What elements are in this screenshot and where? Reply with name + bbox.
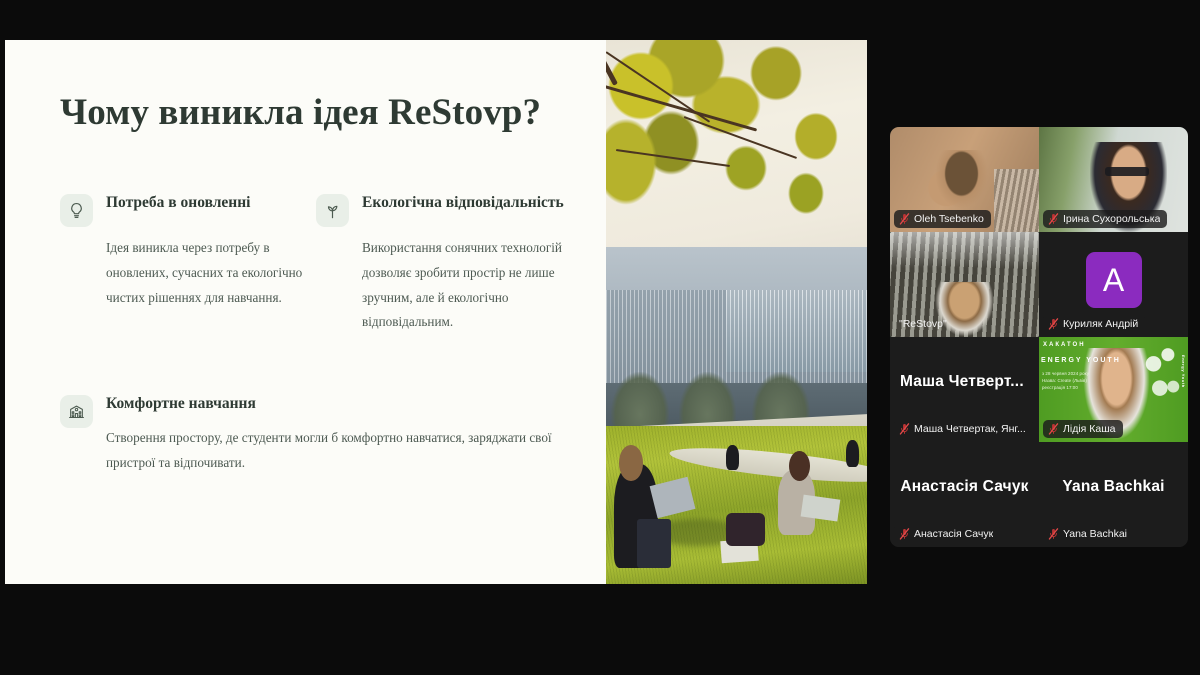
participant-name-badge: Лідія Каша (1043, 420, 1123, 438)
photo-backpack (726, 513, 765, 546)
school-building-icon (60, 395, 93, 428)
avatar: А (1086, 252, 1142, 308)
feature-body: Потреба в оновленні Ідея виникла через п… (106, 192, 306, 310)
participant-name: Маша Четвертак, Янг... (914, 422, 1026, 436)
mic-off-icon (1048, 318, 1059, 330)
participant-name: Ірина Сухорольська (1063, 212, 1160, 226)
participant-name: Куриляк Андрій (1063, 317, 1138, 331)
slide-photo-campus-lawn (606, 40, 867, 584)
mic-off-icon (1048, 213, 1059, 225)
poster-line1: ХАКАТОН (1043, 342, 1086, 348)
participant-name-badge: Yana Bachkai (1043, 525, 1134, 543)
participant-tile-yana-bachkai[interactable]: Yana Bachkai Yana Bachkai (1039, 442, 1188, 547)
participant-name-badge: Маша Четвертак, Янг... (894, 420, 1033, 438)
feature-item-eco-responsibility: Екологічна відповідальність Використання… (316, 192, 566, 335)
poster-side-text: Energy Youth (1181, 355, 1186, 388)
participant-name-badge: Куриляк Андрій (1043, 315, 1145, 333)
participant-tile-restovp-active-speaker[interactable]: "ReStovp" (890, 232, 1039, 337)
participant-video-panel[interactable]: Oleh Tsebenko Ірина Сухорольська "ReStov… (890, 127, 1188, 547)
feature-body: Екологічна відповідальність Використання… (362, 192, 564, 335)
photo-person-distant (726, 445, 739, 469)
sprout-icon (316, 194, 349, 227)
participant-tile-iryna-sukhorolska[interactable]: Ірина Сухорольська (1039, 127, 1188, 232)
feature-text: Ідея виникла через потребу в оновлених, … (106, 236, 306, 310)
mic-off-icon (899, 528, 910, 540)
feature-text: Створення простору, де студенти могли б … (106, 426, 566, 476)
participant-name-badge: Анастасія Сачук (894, 525, 1000, 543)
participant-tile-oleh-tsebenko[interactable]: Oleh Tsebenko (890, 127, 1039, 232)
photo-student-head (789, 451, 810, 481)
poster-line2: ENERGY YOUTH (1041, 357, 1121, 364)
participant-name-badge: Ірина Сухорольська (1043, 210, 1167, 228)
screen-root: Чому виникла ідея ReStovp? Потреба в оно… (0, 0, 1200, 675)
photo-bag (637, 519, 671, 568)
participant-tile-kurylyak-andrii[interactable]: А Куриляк Андрій (1039, 232, 1188, 337)
participant-tile-masha-chetvertak[interactable]: Маша Четверт... Маша Четвертак, Янг... (890, 337, 1039, 442)
participant-name: Анастасія Сачук (914, 527, 993, 541)
participant-name: Yana Bachkai (1063, 527, 1127, 541)
feature-title: Комфортне навчання (106, 394, 566, 415)
photo-tree-canopy (606, 40, 846, 345)
feature-grid: Потреба в оновленні Ідея виникла через п… (60, 192, 566, 475)
participant-name: Oleh Tsebenko (914, 212, 984, 226)
photo-student-head (619, 445, 642, 480)
slide-title: Чому виникла ідея ReStovp? (60, 92, 566, 133)
feature-body: Комфортне навчання Створення простору, д… (106, 393, 566, 475)
participant-tile-anastasiia-sachuk[interactable]: Анастасія Сачук Анастасія Сачук (890, 442, 1039, 547)
participant-name-badge: Oleh Tsebenko (894, 210, 991, 228)
participant-name: Лідія Каша (1063, 422, 1116, 436)
mic-off-icon (1048, 528, 1059, 540)
feature-item-need-for-renewal: Потреба в оновленні Ідея виникла через п… (60, 192, 316, 335)
participant-name: "ReStovp" (899, 317, 947, 331)
feature-title: Екологічна відповідальність (362, 193, 564, 214)
feature-item-comfortable-learning: Комфортне навчання Створення простору, д… (60, 393, 566, 475)
mic-off-icon (899, 213, 910, 225)
participant-tile-lidiya-kasha[interactable]: ХАКАТОН ENERGY YOUTH з 28 червня 2024 ро… (1039, 337, 1188, 442)
slide-content: Чому виникла ідея ReStovp? Потреба в оно… (5, 40, 606, 584)
mic-off-icon (1048, 423, 1059, 435)
feature-title: Потреба в оновленні (106, 193, 306, 214)
lightbulb-icon (60, 194, 93, 227)
mic-off-icon (899, 423, 910, 435)
participant-name-badge: "ReStovp" (894, 315, 954, 333)
shared-slide: Чому виникла ідея ReStovp? Потреба в оно… (5, 40, 867, 584)
photo-person-distant (846, 440, 859, 467)
feature-text: Використання сонячних технологій дозволя… (362, 236, 562, 335)
poster-details: з 28 червня 2024 року Назва: Сreate (Льв… (1042, 371, 1089, 391)
